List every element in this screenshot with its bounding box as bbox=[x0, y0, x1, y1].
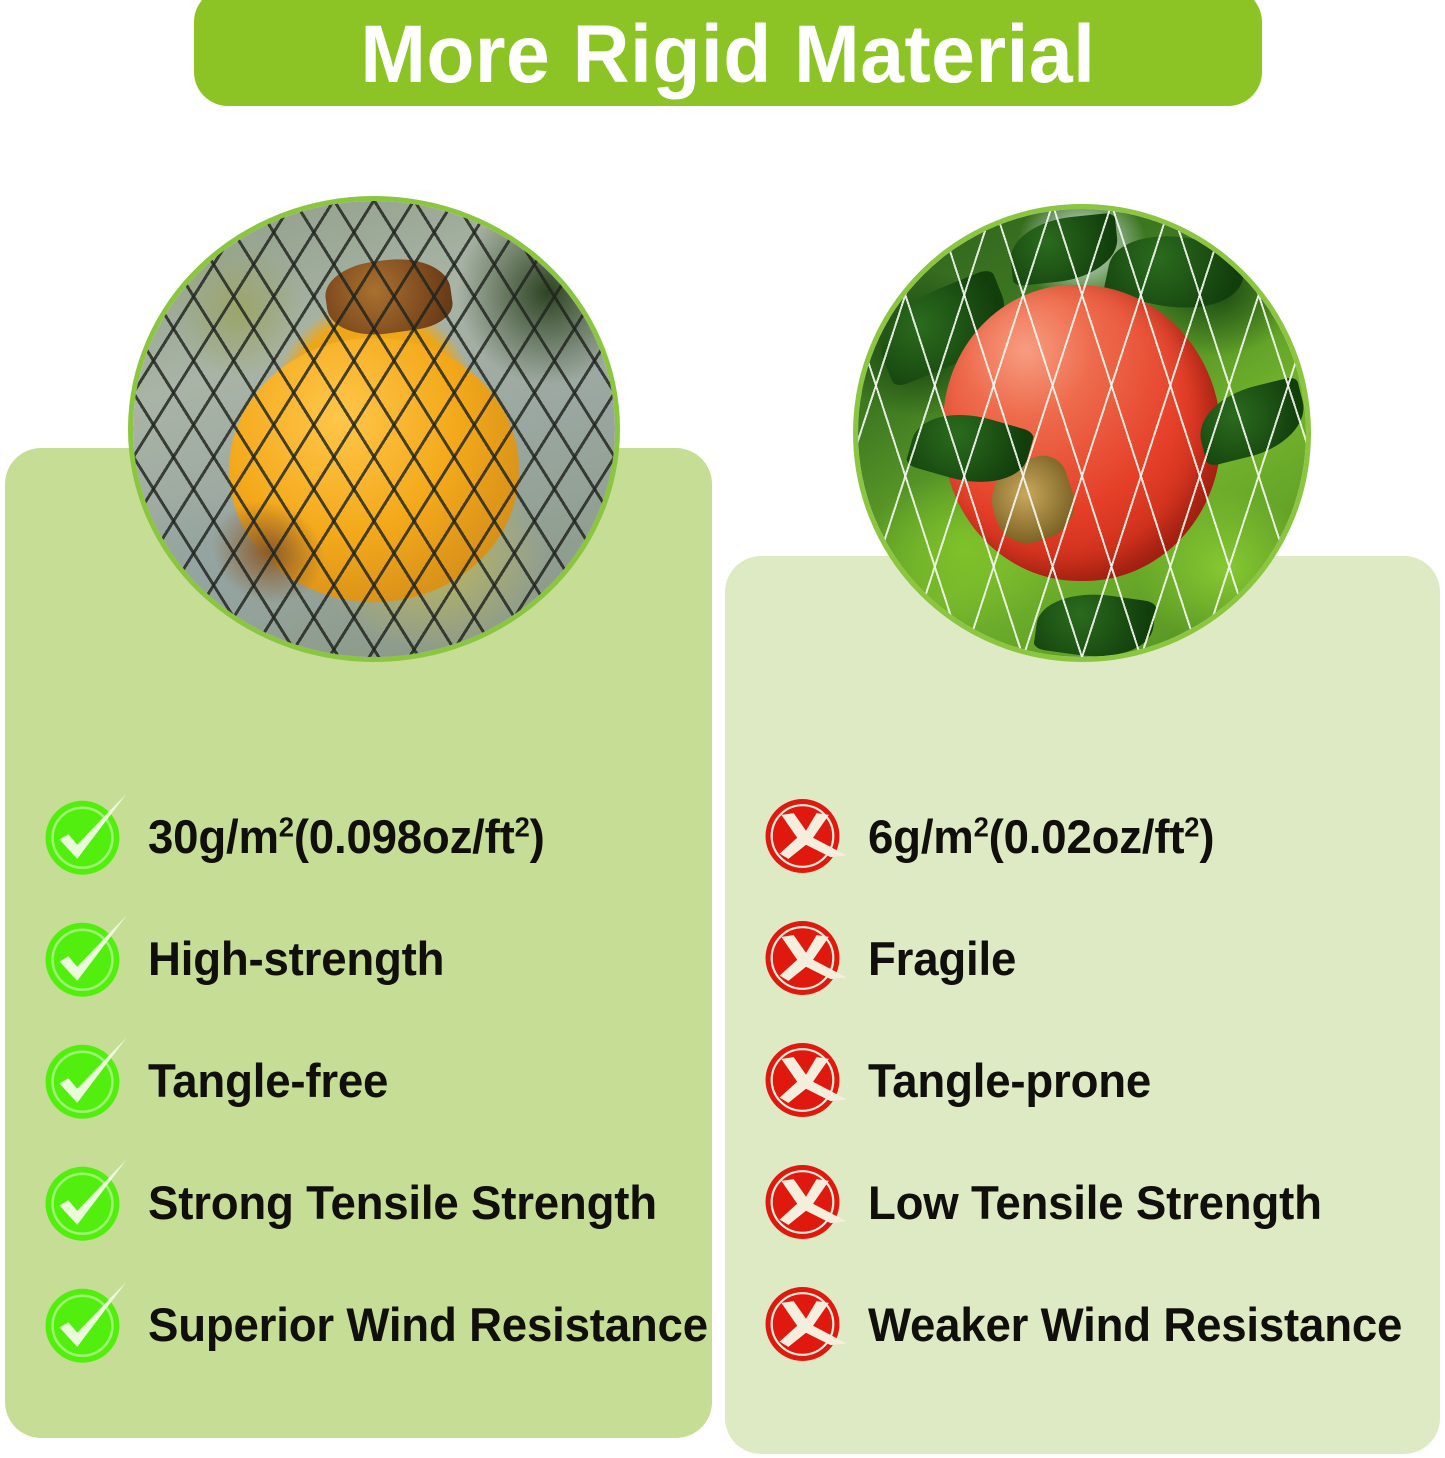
list-item: Low Tensile Strength bbox=[762, 1141, 1437, 1263]
check-circle-icon bbox=[42, 1280, 130, 1368]
fruit-in-heavy-duty-net-photo bbox=[128, 196, 620, 662]
list-item-label: Strong Tensile Strength bbox=[148, 1175, 657, 1230]
thin-net-overlay bbox=[853, 204, 1311, 662]
list-item-label: Tangle-prone bbox=[868, 1053, 1151, 1108]
fruit-in-thin-net-photo bbox=[853, 204, 1311, 662]
list-item: Tangle-prone bbox=[762, 1019, 1437, 1141]
page-title: More Rigid Material bbox=[360, 8, 1095, 102]
list-item: 30g/m2(0.098oz/ft2) bbox=[42, 775, 702, 897]
check-circle-icon bbox=[42, 792, 130, 880]
list-item: Fragile bbox=[762, 897, 1437, 1019]
list-item-label: Fragile bbox=[868, 931, 1016, 986]
photo-inner-left bbox=[133, 201, 615, 657]
x-circle-icon bbox=[762, 1036, 850, 1124]
list-item-label: 6g/m2(0.02oz/ft2) bbox=[868, 809, 1214, 864]
list-item: High-strength bbox=[42, 897, 702, 1019]
flimsy-material-feature-list: 6g/m2(0.02oz/ft2) Fragile Tangle-prone bbox=[762, 775, 1437, 1385]
x-circle-icon bbox=[762, 1158, 850, 1246]
list-item: Weaker Wind Resistance bbox=[762, 1263, 1437, 1385]
list-item-label: Tangle-free bbox=[148, 1053, 388, 1108]
photo-inner-right bbox=[858, 209, 1306, 657]
x-circle-icon bbox=[762, 1280, 850, 1368]
rigid-material-feature-list: 30g/m2(0.098oz/ft2) High-strength Tangle… bbox=[42, 775, 702, 1385]
check-circle-icon bbox=[42, 914, 130, 1002]
list-item: Strong Tensile Strength bbox=[42, 1141, 702, 1263]
check-circle-icon bbox=[42, 1158, 130, 1246]
x-circle-icon bbox=[762, 914, 850, 1002]
x-circle-icon bbox=[762, 792, 850, 880]
list-item-label: High-strength bbox=[148, 931, 444, 986]
list-item-label: Superior Wind Resistance bbox=[148, 1297, 708, 1352]
list-item-label: 30g/m2(0.098oz/ft2) bbox=[148, 809, 545, 864]
list-item-label: Weaker Wind Resistance bbox=[868, 1297, 1402, 1352]
list-item: 6g/m2(0.02oz/ft2) bbox=[762, 775, 1437, 897]
check-circle-icon bbox=[42, 1036, 130, 1124]
list-item: Superior Wind Resistance bbox=[42, 1263, 702, 1385]
header-banner: More Rigid Material bbox=[194, 0, 1262, 106]
list-item: Tangle-free bbox=[42, 1019, 702, 1141]
heavy-duty-mesh-overlay bbox=[128, 196, 620, 662]
list-item-label: Low Tensile Strength bbox=[868, 1175, 1322, 1230]
